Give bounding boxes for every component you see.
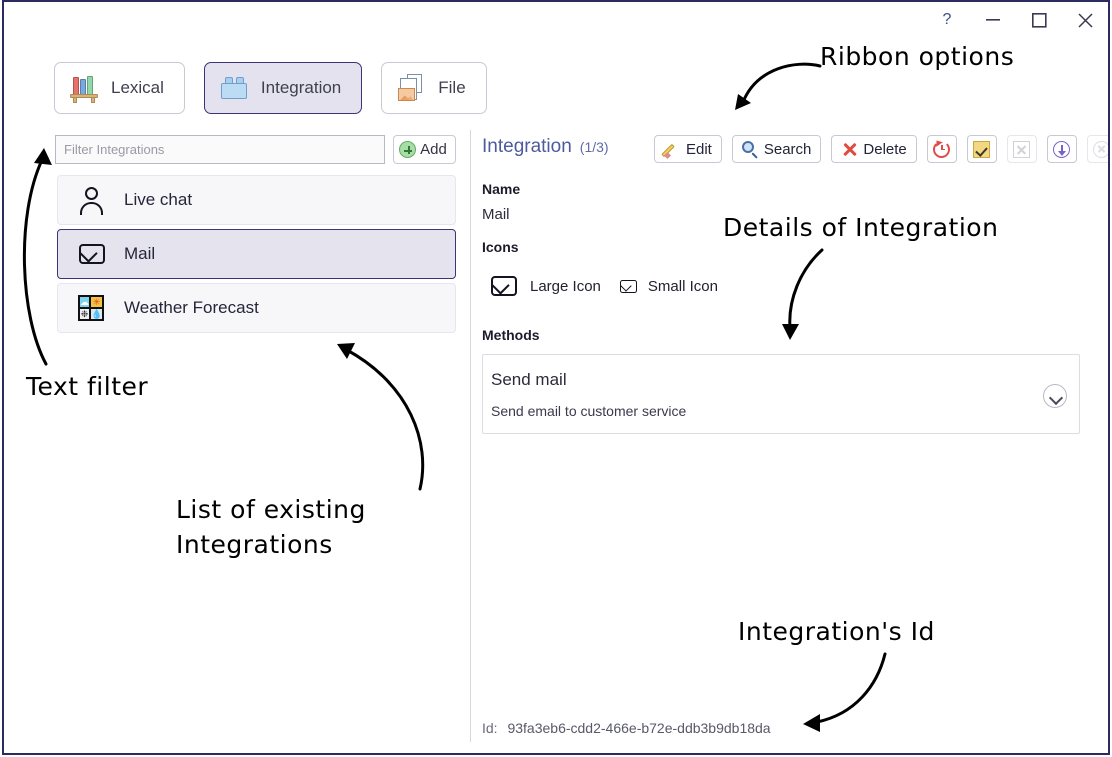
integrations-list: Live chat Mail ☁ ✳ ❉ 💧 Weather Forecast xyxy=(57,175,456,337)
integration-id-line: Id: 93fa3eb6-cdd2-466e-b72e-ddb3b9db18da xyxy=(482,720,771,736)
file-image-icon xyxy=(396,73,426,103)
annotation-ribbon-options: Ribbon options xyxy=(820,42,1014,71)
cancel-box-icon xyxy=(1013,141,1030,158)
icons-row: Large Icon Small Icon xyxy=(488,270,718,302)
id-value: 93fa3eb6-cdd2-466e-b72e-ddb3b9db18da xyxy=(507,720,770,736)
record-counter: (1/3) xyxy=(580,139,609,155)
list-item-label: Mail xyxy=(124,244,155,264)
yellow-check-icon xyxy=(973,141,990,158)
red-x-icon xyxy=(841,141,858,158)
list-item-label: Weather Forecast xyxy=(124,298,259,318)
chevron-down-icon[interactable] xyxy=(1043,384,1067,408)
tab-file[interactable]: File xyxy=(381,62,486,114)
app-window: ? Lexical xyxy=(2,0,1110,755)
tab-integration[interactable]: Integration xyxy=(204,62,362,114)
method-description: Send email to customer service xyxy=(491,403,686,419)
page-title: Integration xyxy=(482,136,572,158)
list-item-mail[interactable]: Mail xyxy=(57,229,456,279)
large-icon-label: Large Icon xyxy=(530,278,601,295)
panel-divider xyxy=(470,130,471,742)
envelope-icon xyxy=(76,238,108,270)
edit-button-label: Edit xyxy=(686,141,712,158)
bookshelf-icon xyxy=(69,73,99,103)
method-title: Send mail xyxy=(491,370,567,390)
ribbon-tabs: Lexical Integration File xyxy=(54,62,487,114)
help-icon[interactable]: ? xyxy=(924,3,970,37)
annotation-details: Details of Integration xyxy=(723,213,998,242)
delete-button[interactable]: Delete xyxy=(831,135,916,163)
filter-row: Add xyxy=(55,135,456,164)
tab-file-label: File xyxy=(438,78,465,98)
close-circle-icon xyxy=(1093,141,1110,158)
lego-brick-icon xyxy=(219,73,249,103)
annotation-text-filter: Text filter xyxy=(26,372,148,401)
small-icon-label: Small Icon xyxy=(648,278,718,295)
cancel-button xyxy=(1007,135,1037,163)
close-icon[interactable] xyxy=(1062,3,1108,37)
undo-history-button[interactable] xyxy=(927,135,957,163)
small-envelope-icon xyxy=(619,277,638,296)
person-icon xyxy=(76,184,108,216)
annotation-list-line2: Integrations xyxy=(176,530,333,559)
list-item-live-chat[interactable]: Live chat xyxy=(57,175,456,225)
list-item-weather-forecast[interactable]: ☁ ✳ ❉ 💧 Weather Forecast xyxy=(57,283,456,333)
minimize-icon[interactable] xyxy=(970,3,1016,37)
name-label: Name xyxy=(482,181,520,197)
large-envelope-icon xyxy=(488,270,520,302)
tab-integration-label: Integration xyxy=(261,78,341,98)
filter-input[interactable] xyxy=(55,135,385,164)
add-button[interactable]: Add xyxy=(393,135,456,164)
detail-toolbar: Edit Search Delete xyxy=(654,135,1110,163)
list-item-label: Live chat xyxy=(124,190,192,210)
name-value: Mail xyxy=(482,206,510,223)
plus-circle-icon xyxy=(399,141,416,158)
delete-button-label: Delete xyxy=(863,141,906,158)
detail-header: Integration (1/3) xyxy=(482,136,609,158)
download-arrow-icon xyxy=(1053,141,1070,158)
id-label: Id: xyxy=(482,720,498,736)
pencil-icon xyxy=(664,141,681,158)
method-card[interactable]: Send mail Send email to customer service xyxy=(482,354,1080,434)
annotation-list-line1: List of existing xyxy=(176,495,366,524)
close-record-button xyxy=(1087,135,1110,163)
undo-history-icon xyxy=(933,141,950,158)
magnifier-icon xyxy=(742,141,759,158)
search-button[interactable]: Search xyxy=(732,135,822,163)
maximize-icon[interactable] xyxy=(1016,3,1062,37)
icons-label: Icons xyxy=(482,239,519,255)
search-button-label: Search xyxy=(764,141,812,158)
edit-button[interactable]: Edit xyxy=(654,135,722,163)
weather-grid-icon: ☁ ✳ ❉ 💧 xyxy=(76,293,108,323)
download-button[interactable] xyxy=(1047,135,1077,163)
annotation-integration-id: Integration's Id xyxy=(738,617,935,646)
methods-label: Methods xyxy=(482,327,540,343)
confirm-button[interactable] xyxy=(967,135,997,163)
tab-lexical[interactable]: Lexical xyxy=(54,62,185,114)
add-button-label: Add xyxy=(420,141,447,158)
title-bar: ? xyxy=(4,2,1108,38)
tab-lexical-label: Lexical xyxy=(111,78,164,98)
